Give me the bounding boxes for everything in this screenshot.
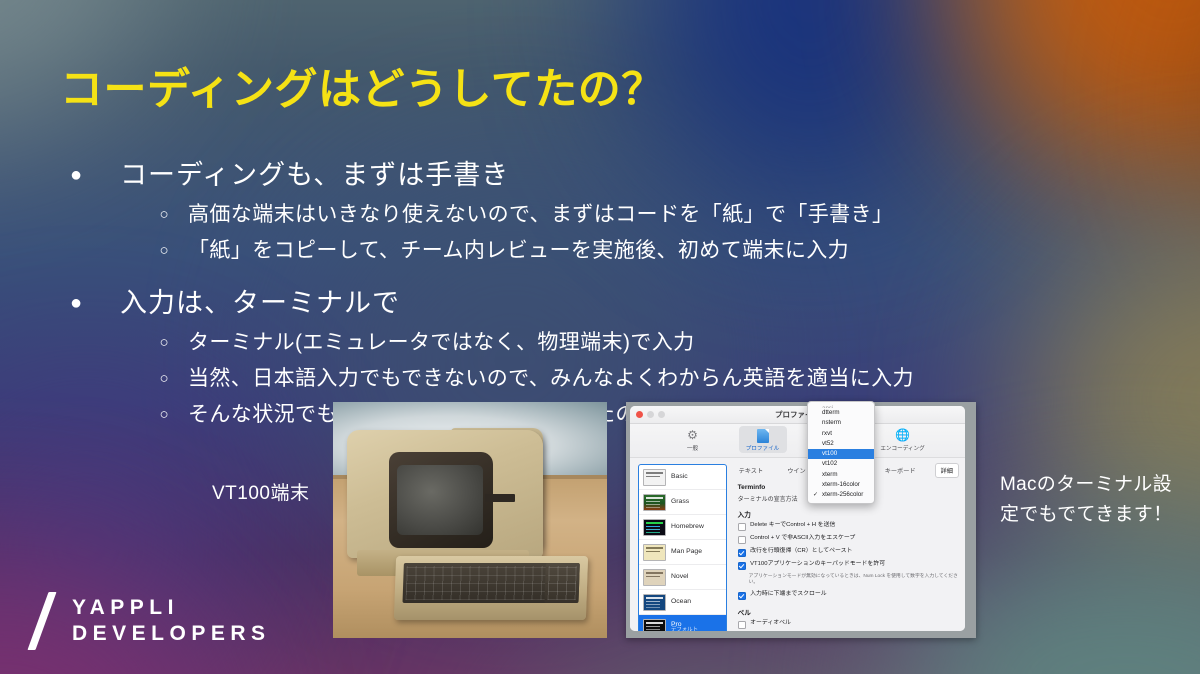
profile-thumbnail-icon bbox=[643, 494, 666, 511]
checkbox-icon-checked[interactable] bbox=[738, 592, 747, 601]
caption-mac-terminal: Macのターミナル設定でもでてきます！ bbox=[1000, 470, 1185, 530]
profile-thumbnail-icon bbox=[643, 469, 666, 486]
dropdown-item[interactable]: nsterm bbox=[808, 418, 874, 428]
profile-thumbnail-icon bbox=[643, 519, 666, 536]
profile-row[interactable]: Novel bbox=[639, 565, 726, 590]
toolbar-item-profiles[interactable]: プロファイル bbox=[739, 426, 787, 453]
slash-icon bbox=[27, 592, 56, 650]
sub-bullet-text: 当然、日本語入力でもできないので、みんなよくわからん英語を適当に入力 bbox=[188, 361, 914, 397]
sub-bullet-item: ○ 高価な端末はいきなり使えないので、まずはコードを「紙」で「手書き」 bbox=[62, 197, 1022, 233]
spacer bbox=[62, 269, 1022, 283]
dropdown-item[interactable]: vt52 bbox=[808, 439, 874, 449]
checkbox-row[interactable]: 改行を行頭復帰（CR）としてペースト bbox=[738, 548, 959, 557]
document-icon bbox=[755, 428, 770, 443]
terminal-bezel bbox=[389, 452, 493, 548]
bullet-text: コーディングも、まずは手書き bbox=[120, 155, 509, 195]
profile-row-selected[interactable]: Pro デフォルト bbox=[639, 615, 726, 631]
checkbox-row[interactable]: VT100アプリケーションのキーパッドモードを許可 bbox=[738, 561, 959, 570]
checkbox-row[interactable]: 入力時に下端までスクロール bbox=[738, 591, 959, 600]
checkbox-label: 改行を行頭復帰（CR）としてペースト bbox=[750, 548, 852, 555]
sub-bullet-marker: ○ bbox=[62, 197, 188, 233]
checkbox-row[interactable]: Control + V で非ASCII入力をエスケープ bbox=[738, 535, 959, 544]
close-icon[interactable] bbox=[636, 411, 643, 418]
sub-bullet-marker: ○ bbox=[62, 361, 188, 397]
background-blob bbox=[511, 638, 931, 674]
checkbox-icon[interactable] bbox=[738, 536, 747, 545]
preferences-toolbar: ⚙ 一般 プロファイル ☐ ウインドウ 🌐 エンコーディング bbox=[630, 424, 965, 458]
dropdown-item[interactable]: rxvt bbox=[808, 429, 874, 439]
profile-name: Ocean bbox=[671, 598, 691, 605]
sub-bullet-text: 「紙」をコピーして、チーム内レビューを実施後、初めて端末に入力 bbox=[188, 233, 849, 269]
bullet-list: ● コーディングも、まずは手書き ○ 高価な端末はいきなり使えないので、まずはコ… bbox=[62, 155, 1022, 433]
dropdown-item-checked[interactable]: xterm-256color bbox=[808, 490, 874, 500]
profile-row[interactable]: Man Page bbox=[639, 540, 726, 565]
bullet-item: ● 入力は、ターミナルで bbox=[62, 283, 1022, 323]
profile-thumbnail-icon bbox=[643, 569, 666, 586]
checkbox-row[interactable]: オーディオベル bbox=[738, 620, 959, 629]
profile-list[interactable]: Basic Grass Homebrew bbox=[638, 464, 727, 631]
gear-icon: ⚙ bbox=[685, 428, 700, 443]
input-section-heading: 入力 bbox=[738, 509, 959, 519]
checkbox-icon[interactable] bbox=[738, 621, 747, 630]
input-section-note: アプリケーションモードが無効になっているときは、Num Lock を使用して数字… bbox=[749, 574, 959, 586]
sub-bullet-marker: ○ bbox=[62, 325, 188, 361]
terminal-keyboard bbox=[394, 556, 588, 620]
bullet-marker: ● bbox=[62, 155, 120, 195]
checkbox-label: オーディオベル bbox=[750, 620, 791, 627]
profile-name: Grass bbox=[671, 498, 689, 505]
minimize-icon[interactable] bbox=[647, 411, 654, 418]
bell-section-heading: ベル bbox=[738, 607, 959, 617]
profile-name: Novel bbox=[671, 573, 688, 580]
profile-name: Basic bbox=[671, 473, 688, 480]
sub-bullet-item: ○ 当然、日本語入力でもできないので、みんなよくわからん英語を適当に入力 bbox=[62, 361, 1022, 397]
dropdown-item[interactable]: vt102 bbox=[808, 459, 874, 469]
tab-keyboard[interactable]: キーボード bbox=[880, 464, 921, 477]
mac-titlebar: プロファイル bbox=[630, 406, 965, 424]
profile-row[interactable]: Basic bbox=[639, 465, 726, 490]
checkbox-label: Control + V で非ASCII入力をエスケープ bbox=[750, 535, 855, 542]
profile-row[interactable]: Grass bbox=[639, 490, 726, 515]
dropdown-item-vt100-highlighted[interactable]: vt100 bbox=[808, 449, 874, 459]
terminal-screen bbox=[397, 465, 483, 535]
checkbox-label: VT100アプリケーションのキーパッドモードを許可 bbox=[750, 561, 885, 568]
globe-icon: 🌐 bbox=[895, 428, 910, 443]
terminal-logo-badge bbox=[485, 494, 515, 502]
checkbox-icon-checked[interactable] bbox=[738, 562, 747, 571]
dropdown-item[interactable]: dtterm bbox=[808, 408, 874, 418]
toolbar-item-label: 一般 bbox=[687, 444, 698, 452]
mac-terminal-preferences-screenshot: プロファイル ⚙ 一般 プロファイル ☐ ウインドウ 🌐 エンコーディング bbox=[626, 402, 976, 638]
checkbox-row[interactable]: Delete キーでControl + H を送信 bbox=[738, 522, 959, 531]
dropdown-item[interactable]: xterm bbox=[808, 470, 874, 480]
profile-name: Man Page bbox=[671, 548, 702, 555]
checkbox-icon-checked[interactable] bbox=[738, 549, 747, 558]
terminfo-dropdown-menu[interactable]: ansi dtterm nsterm rxvt vt52 vt100 vt102… bbox=[807, 401, 875, 504]
sub-bullet-item: ○ 「紙」をコピーして、チーム内レビューを実施後、初めて端末に入力 bbox=[62, 233, 1022, 269]
profile-name: Homebrew bbox=[671, 523, 704, 530]
zoom-icon[interactable] bbox=[658, 411, 665, 418]
yappli-developers-logo: YAPPLI DEVELOPERS bbox=[38, 592, 271, 650]
window-controls[interactable] bbox=[636, 411, 665, 418]
profile-thumbnail-icon bbox=[643, 619, 666, 632]
profile-thumbnail-icon bbox=[643, 594, 666, 611]
toolbar-item-label: エンコーディング bbox=[880, 444, 924, 452]
slide: コーディングはどうしてたの？ ● コーディングも、まずは手書き ○ 高価な端末は… bbox=[0, 0, 1200, 674]
sub-bullet-text: 高価な端末はいきなり使えないので、まずはコードを「紙」で「手書き」 bbox=[188, 197, 893, 233]
profile-row[interactable]: Homebrew bbox=[639, 515, 726, 540]
toolbar-item-encoding[interactable]: 🌐 エンコーディング bbox=[879, 428, 927, 452]
bullet-marker: ● bbox=[62, 283, 120, 323]
caption-vt100: VT100端末 bbox=[212, 478, 309, 505]
profile-row[interactable]: Ocean bbox=[639, 590, 726, 615]
toolbar-item-general[interactable]: ⚙ 一般 bbox=[669, 428, 717, 452]
tab-advanced[interactable]: 詳細 bbox=[935, 463, 959, 478]
toolbar-item-label: プロファイル bbox=[746, 444, 780, 452]
checkbox-label: 入力時に下端までスクロール bbox=[750, 591, 827, 598]
checkbox-icon[interactable] bbox=[738, 523, 747, 532]
mac-window: プロファイル ⚙ 一般 プロファイル ☐ ウインドウ 🌐 エンコーディング bbox=[630, 406, 965, 631]
checkbox-label: Delete キーでControl + H を送信 bbox=[750, 522, 835, 529]
page-title: コーディングはどうしてたの？ bbox=[60, 55, 665, 117]
window-title: プロファイル bbox=[630, 406, 965, 423]
profile-thumbnail-icon bbox=[643, 544, 666, 561]
keyboard-keypad bbox=[544, 563, 579, 603]
sub-bullet-marker: ○ bbox=[62, 397, 188, 433]
sub-bullet-item: ○ ターミナル(エミュレータではなく、物理端末)で入力 bbox=[62, 325, 1022, 361]
bullet-item: ● コーディングも、まずは手書き bbox=[62, 155, 1022, 195]
sub-bullet-marker: ○ bbox=[62, 233, 188, 269]
vt100-terminal-photo bbox=[333, 402, 607, 638]
logo-line-1: YAPPLI bbox=[72, 597, 271, 619]
bullet-text: 入力は、ターミナルで bbox=[120, 283, 400, 323]
logo-line-2: DEVELOPERS bbox=[72, 623, 271, 645]
tab-text[interactable]: テキスト bbox=[734, 464, 769, 477]
sub-bullet-text: ターミナル(エミュレータではなく、物理端末)で入力 bbox=[188, 325, 695, 361]
profile-default-badge: デフォルト bbox=[671, 628, 698, 631]
preferences-body: Basic Grass Homebrew bbox=[630, 458, 965, 631]
dropdown-item[interactable]: xterm-16color bbox=[808, 480, 874, 490]
